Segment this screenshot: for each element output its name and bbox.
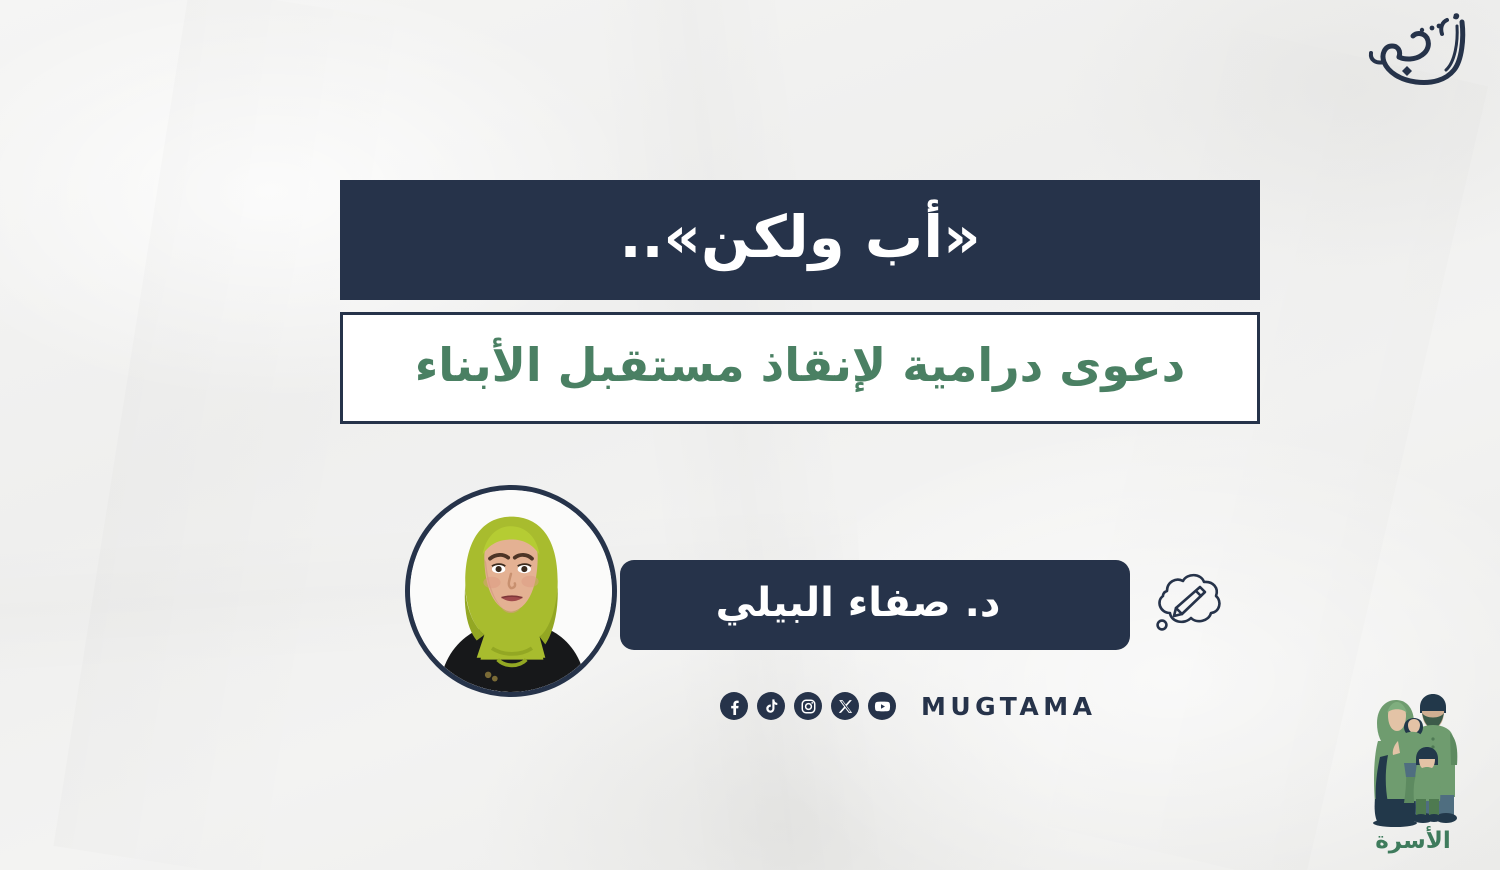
subtitle-bar: دعوى درامية لإنقاذ مستقبل الأبناء — [340, 312, 1260, 424]
author-block: د. صفاء البيلي — [405, 485, 1225, 715]
thought-bubble-pencil-icon — [1143, 563, 1229, 649]
headline-block: «أب ولكن».. دعوى درامية لإنقاذ مستقبل ال… — [340, 180, 1260, 424]
author-name-plate: د. صفاء البيلي — [620, 560, 1130, 650]
paper-texture-fold — [581, 0, 899, 870]
al-mujtama-logo — [1358, 8, 1478, 100]
title-bar: «أب ولكن».. — [340, 180, 1260, 300]
muslim-family-illustration — [1354, 687, 1472, 827]
page-title: «أب ولكن».. — [619, 208, 980, 272]
poster-canvas: «أب ولكن».. دعوى درامية لإنقاذ مستقبل ال… — [0, 0, 1500, 870]
author-portrait — [405, 485, 617, 697]
facebook-icon[interactable] — [720, 692, 748, 720]
tiktok-icon[interactable] — [757, 692, 785, 720]
instagram-icon[interactable] — [794, 692, 822, 720]
page-subtitle: دعوى درامية لإنقاذ مستقبل الأبناء — [415, 342, 1185, 394]
section-badge-label: الأسرة — [1354, 829, 1472, 854]
section-badge-family: الأسرة — [1354, 687, 1472, 854]
social-links[interactable]: MUGTAMA — [720, 692, 1096, 720]
social-handle: MUGTAMA — [921, 694, 1096, 719]
x-twitter-icon[interactable] — [831, 692, 859, 720]
youtube-icon[interactable] — [868, 692, 896, 720]
paper-texture-fold — [53, 0, 426, 870]
author-name: د. صفاء البيلي — [716, 583, 1035, 628]
